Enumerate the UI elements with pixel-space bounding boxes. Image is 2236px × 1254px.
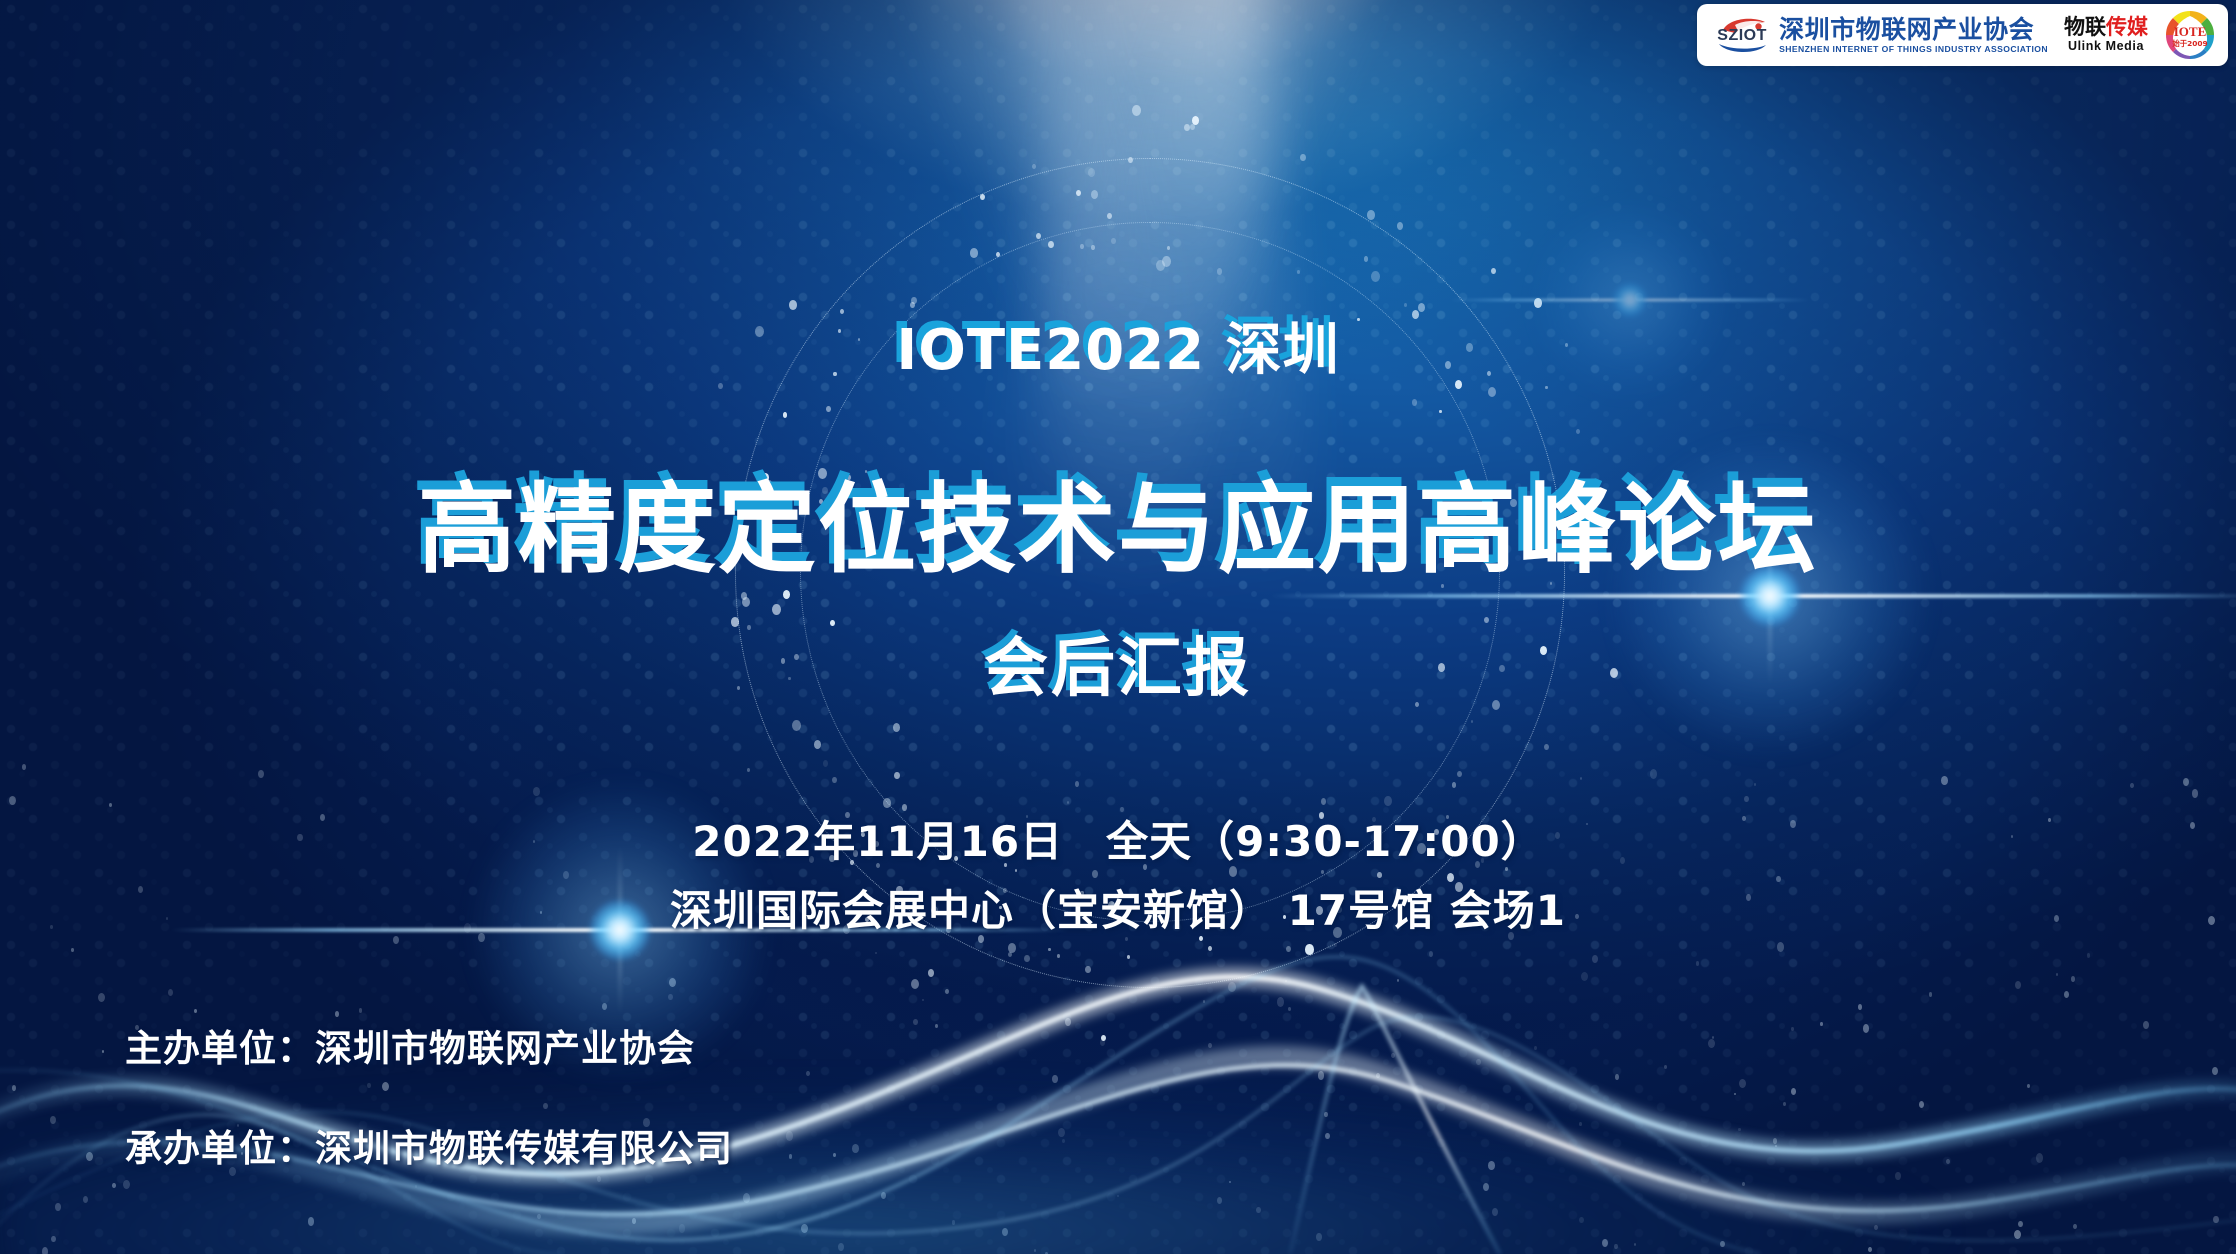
event-venue: 深圳国际会展中心（宝安新馆） 17号馆 会场1	[0, 877, 2236, 938]
poster-content: IOTE2022 深圳 高精度定位技术与应用高峰论坛 会后汇报 2022年11月…	[0, 0, 2236, 1254]
sziot-name-en: SHENZHEN INTERNET OF THINGS INDUSTRY ASS…	[1779, 45, 2048, 54]
sziot-name-cn: 深圳市物联网产业协会	[1779, 17, 2048, 42]
event-date: 2022年11月16日 全天（9:30-17:00）	[0, 808, 2236, 869]
ulink-media-logo: 物联传媒 Ulink Media	[2064, 17, 2148, 53]
ulink-cn-black: 物联	[2064, 15, 2106, 39]
ulink-cn-red: 传媒	[2106, 15, 2148, 39]
sziot-logo: SZIOT 深圳市物联网产业协会 SHENZHEN INTERNET OF TH…	[1713, 14, 2048, 56]
host-organization: 主办单位：深圳市物联网产业协会	[125, 1018, 733, 1072]
sziot-mark-icon: SZIOT	[1713, 14, 1771, 56]
svg-text:IOTE: IOTE	[2174, 24, 2207, 39]
logo-bar: SZIOT 深圳市物联网产业协会 SHENZHEN INTERNET OF TH…	[1697, 4, 2228, 66]
ulink-en: Ulink Media	[2064, 40, 2148, 53]
iote-badge-icon: IOTE 始于2009	[2164, 9, 2216, 61]
poster-canvas: IOTE2022 深圳 高精度定位技术与应用高峰论坛 会后汇报 2022年11月…	[0, 0, 2236, 1254]
co-organizer: 承办单位：深圳市物联传媒有限公司	[125, 1118, 733, 1172]
event-eyebrow: IOTE2022 深圳	[0, 305, 2236, 386]
page-title: 高精度定位技术与应用高峰论坛	[0, 450, 2236, 592]
sziot-wordmark: SZIOT	[1713, 27, 1771, 45]
organizer-block: 主办单位：深圳市物联网产业协会 承办单位：深圳市物联传媒有限公司	[125, 1018, 733, 1172]
page-subtitle: 会后汇报	[0, 617, 2236, 709]
svg-text:始于2009: 始于2009	[2172, 39, 2207, 48]
